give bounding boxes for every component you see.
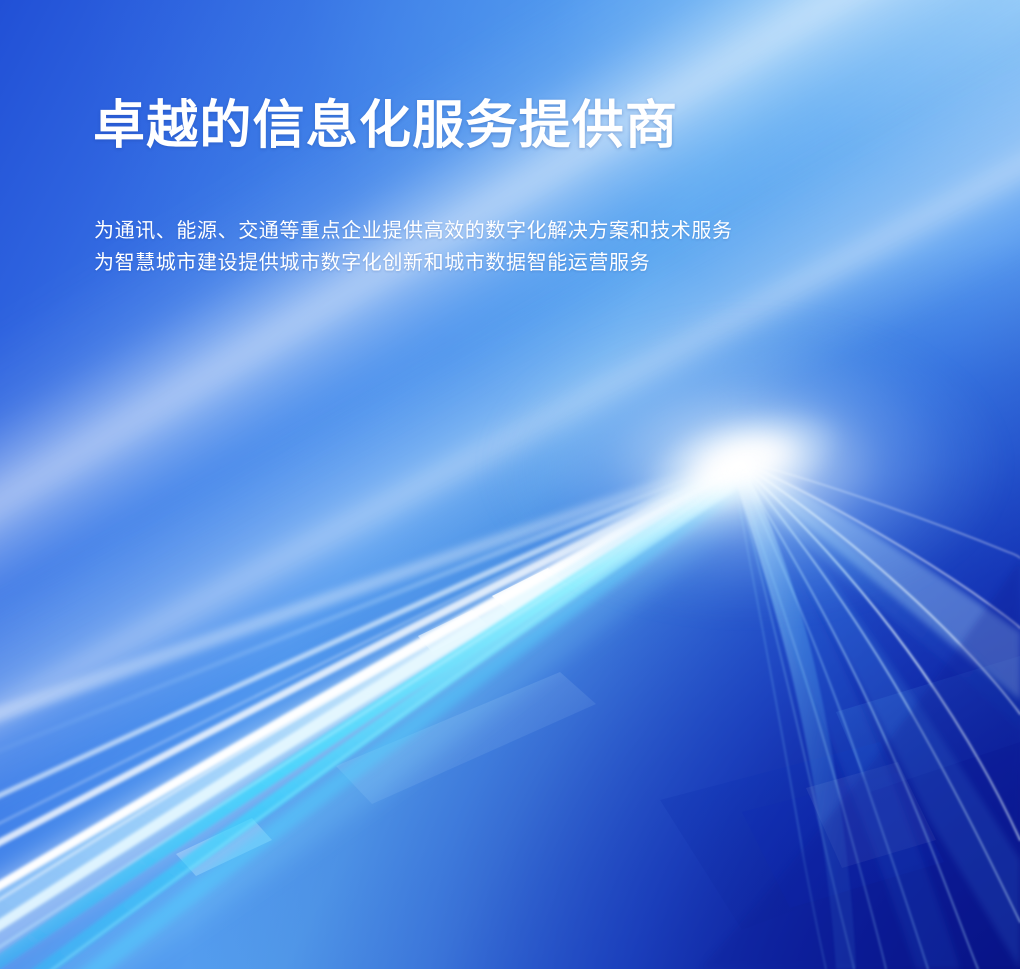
- subtitle-line-1: 为通讯、能源、交通等重点企业提供高效的数字化解决方案和技术服务: [94, 215, 913, 247]
- hero-banner: 卓越的信息化服务提供商 为通讯、能源、交通等重点企业提供高效的数字化解决方案和技…: [0, 0, 1020, 969]
- page-title: 卓越的信息化服务提供商: [93, 96, 913, 156]
- banner-content: 卓越的信息化服务提供商 为通讯、能源、交通等重点企业提供高效的数字化解决方案和技…: [93, 96, 913, 279]
- banner-subtitle: 为通讯、能源、交通等重点企业提供高效的数字化解决方案和技术服务 为智慧城市建设提…: [93, 156, 913, 279]
- subtitle-line-2: 为智慧城市建设提供城市数字化创新和城市数据智能运营服务: [94, 247, 913, 279]
